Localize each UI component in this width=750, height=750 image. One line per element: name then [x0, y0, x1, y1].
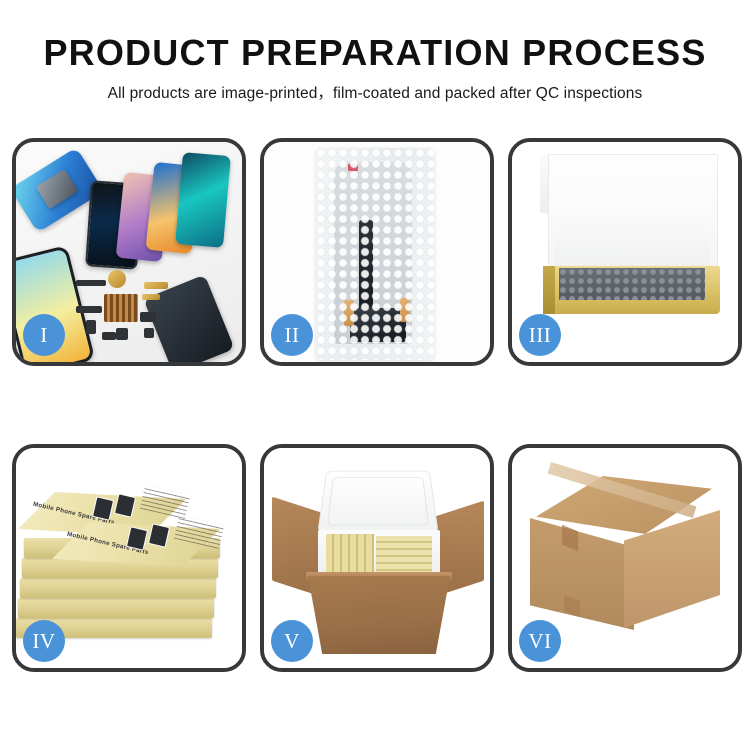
infographic-page: PRODUCT PREPARATION PROCESS All products… — [0, 0, 750, 750]
process-step-grid: I II — [12, 138, 738, 672]
part-camera-module — [108, 270, 126, 288]
foam-lid — [317, 471, 439, 534]
part-chip-1 — [140, 312, 156, 322]
stacked-box — [20, 578, 216, 598]
bubble-wrap-bag — [316, 148, 434, 360]
step-badge-6: VI — [519, 620, 561, 662]
part-flex-cable-2 — [142, 294, 160, 300]
part-flex-cable-1 — [144, 282, 168, 289]
step-badge-5: V — [271, 620, 313, 662]
foam-sheet — [554, 198, 710, 270]
step-badge-1: I — [23, 314, 65, 356]
process-step-2: II — [260, 138, 494, 366]
step-badge-4: IV — [23, 620, 65, 662]
part-button — [144, 328, 154, 338]
step-badge-3: III — [519, 314, 561, 356]
part-chip-3 — [86, 320, 96, 334]
process-step-3: III — [508, 138, 742, 366]
process-step-1: I — [12, 138, 246, 366]
phone-display-4 — [175, 152, 231, 248]
process-step-6: VI — [508, 444, 742, 672]
bubble-wrapped-contents — [559, 268, 705, 300]
connector-grid-part — [104, 294, 138, 322]
part-chip-2 — [116, 328, 128, 340]
part-flex-cable-3 — [76, 306, 102, 313]
gold-box-group-right — [376, 536, 432, 576]
page-subtitle: All products are image-printed，film-coat… — [0, 81, 750, 103]
page-title: PRODUCT PREPARATION PROCESS — [0, 34, 750, 72]
process-step-4: Mobile Phone Spare Parts Mobile Phone Sp… — [12, 444, 246, 672]
gold-box-group-left — [326, 534, 374, 576]
stacked-box — [18, 598, 214, 618]
carton-body — [308, 576, 450, 654]
header: PRODUCT PREPARATION PROCESS All products… — [0, 0, 750, 103]
part-speaker — [76, 280, 106, 286]
process-step-5: V — [260, 444, 494, 672]
part-chip-4 — [102, 332, 116, 340]
bubble-texture — [316, 148, 434, 360]
gold-boxes-inside — [326, 534, 432, 576]
carton-front-face — [530, 518, 634, 630]
step-badge-2: II — [271, 314, 313, 356]
